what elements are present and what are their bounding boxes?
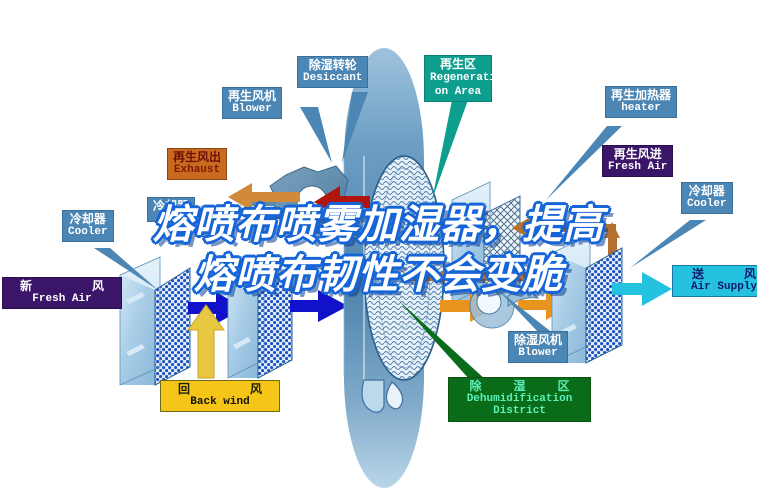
label-cooler-right-en: Cooler [687, 199, 727, 211]
label-air-supply[interactable]: 送 风 Air Supply [672, 265, 757, 297]
label-fresh-air-cn: 新 风 [8, 280, 116, 293]
label-regeneration-area-cn: 再生区 [430, 58, 486, 71]
label-cooler-left[interactable]: 冷却器 Cooler [62, 210, 114, 242]
label-exhaust-cn: 再生风出 [173, 151, 221, 164]
label-dehumidification-district-en1: Dehumidification [454, 394, 585, 406]
label-desiccant-wheel-cn: 除湿转轮 [303, 59, 362, 72]
label-regeneration-area-en1: Regenerati [430, 72, 486, 84]
label-regeneration-area[interactable]: 再生区 Regenerati on Area [424, 55, 492, 102]
label-fresh-air-en: Fresh Air [8, 294, 116, 306]
label-cooler-right[interactable]: 冷却器 Cooler [681, 182, 733, 214]
label-regen-blower[interactable]: 再生风机 Blower [222, 87, 282, 119]
svg-text:XT: XT [398, 322, 410, 332]
dehumidifier-schematic-illustration: XT [0, 0, 757, 488]
label-regen-blower-cn: 再生风机 [228, 90, 276, 103]
label-regen-heater-en: heater [611, 103, 671, 115]
label-exhaust-en: Exhaust [173, 165, 221, 177]
label-dehum-blower-cn: 除湿风机 [514, 334, 562, 347]
label-back-wind-en: Back wind [166, 397, 274, 409]
label-exhaust[interactable]: 再生风出 Exhaust [167, 148, 227, 180]
label-regeneration-area-en2: on Area [430, 86, 486, 98]
label-desiccant-wheel-en: Desiccant [303, 73, 362, 85]
label-regen-fresh-air[interactable]: 再生风进 Fresh Air [602, 145, 673, 177]
label-dehumidification-district-cn: 除 湿 区 [454, 380, 585, 393]
label-regen-heater[interactable]: 再生加热器 heater [605, 86, 677, 118]
label-regen-heater-cn: 再生加热器 [611, 89, 671, 102]
label-regen-fresh-air-cn: 再生风进 [608, 148, 667, 161]
label-dehum-blower[interactable]: 除湿风机 Blower [508, 331, 568, 363]
label-back-wind[interactable]: 回 风 Back wind [160, 380, 280, 412]
label-regen-blower-en: Blower [228, 104, 276, 116]
label-cooler-right-cn: 冷却器 [687, 185, 727, 198]
label-fresh-air[interactable]: 新 风 Fresh Air [2, 277, 122, 309]
label-back-wind-cn: 回 风 [166, 383, 274, 396]
label-regen-fresh-air-en: Fresh Air [608, 162, 667, 174]
label-cooler-left-en: Cooler [68, 227, 108, 239]
cooler-unit-left [120, 257, 190, 385]
label-cooler-left-cn: 冷却器 [68, 213, 108, 226]
cooler-unit-mid [228, 256, 292, 378]
label-cooler-mid[interactable]: 冷却器 [147, 197, 195, 222]
diagram-canvas: XT [0, 0, 757, 488]
label-air-supply-cn: 送 风 [678, 268, 757, 281]
label-dehumidification-district-en2: District [454, 406, 585, 418]
label-cooler-mid-cn: 冷却器 [153, 200, 189, 213]
label-desiccant-wheel[interactable]: 除湿转轮 Desiccant [297, 56, 368, 88]
label-air-supply-en: Air Supply [678, 282, 757, 294]
label-dehumidification-district[interactable]: 除 湿 区 Dehumidification District [448, 377, 591, 422]
label-dehum-blower-en: Blower [514, 348, 562, 360]
